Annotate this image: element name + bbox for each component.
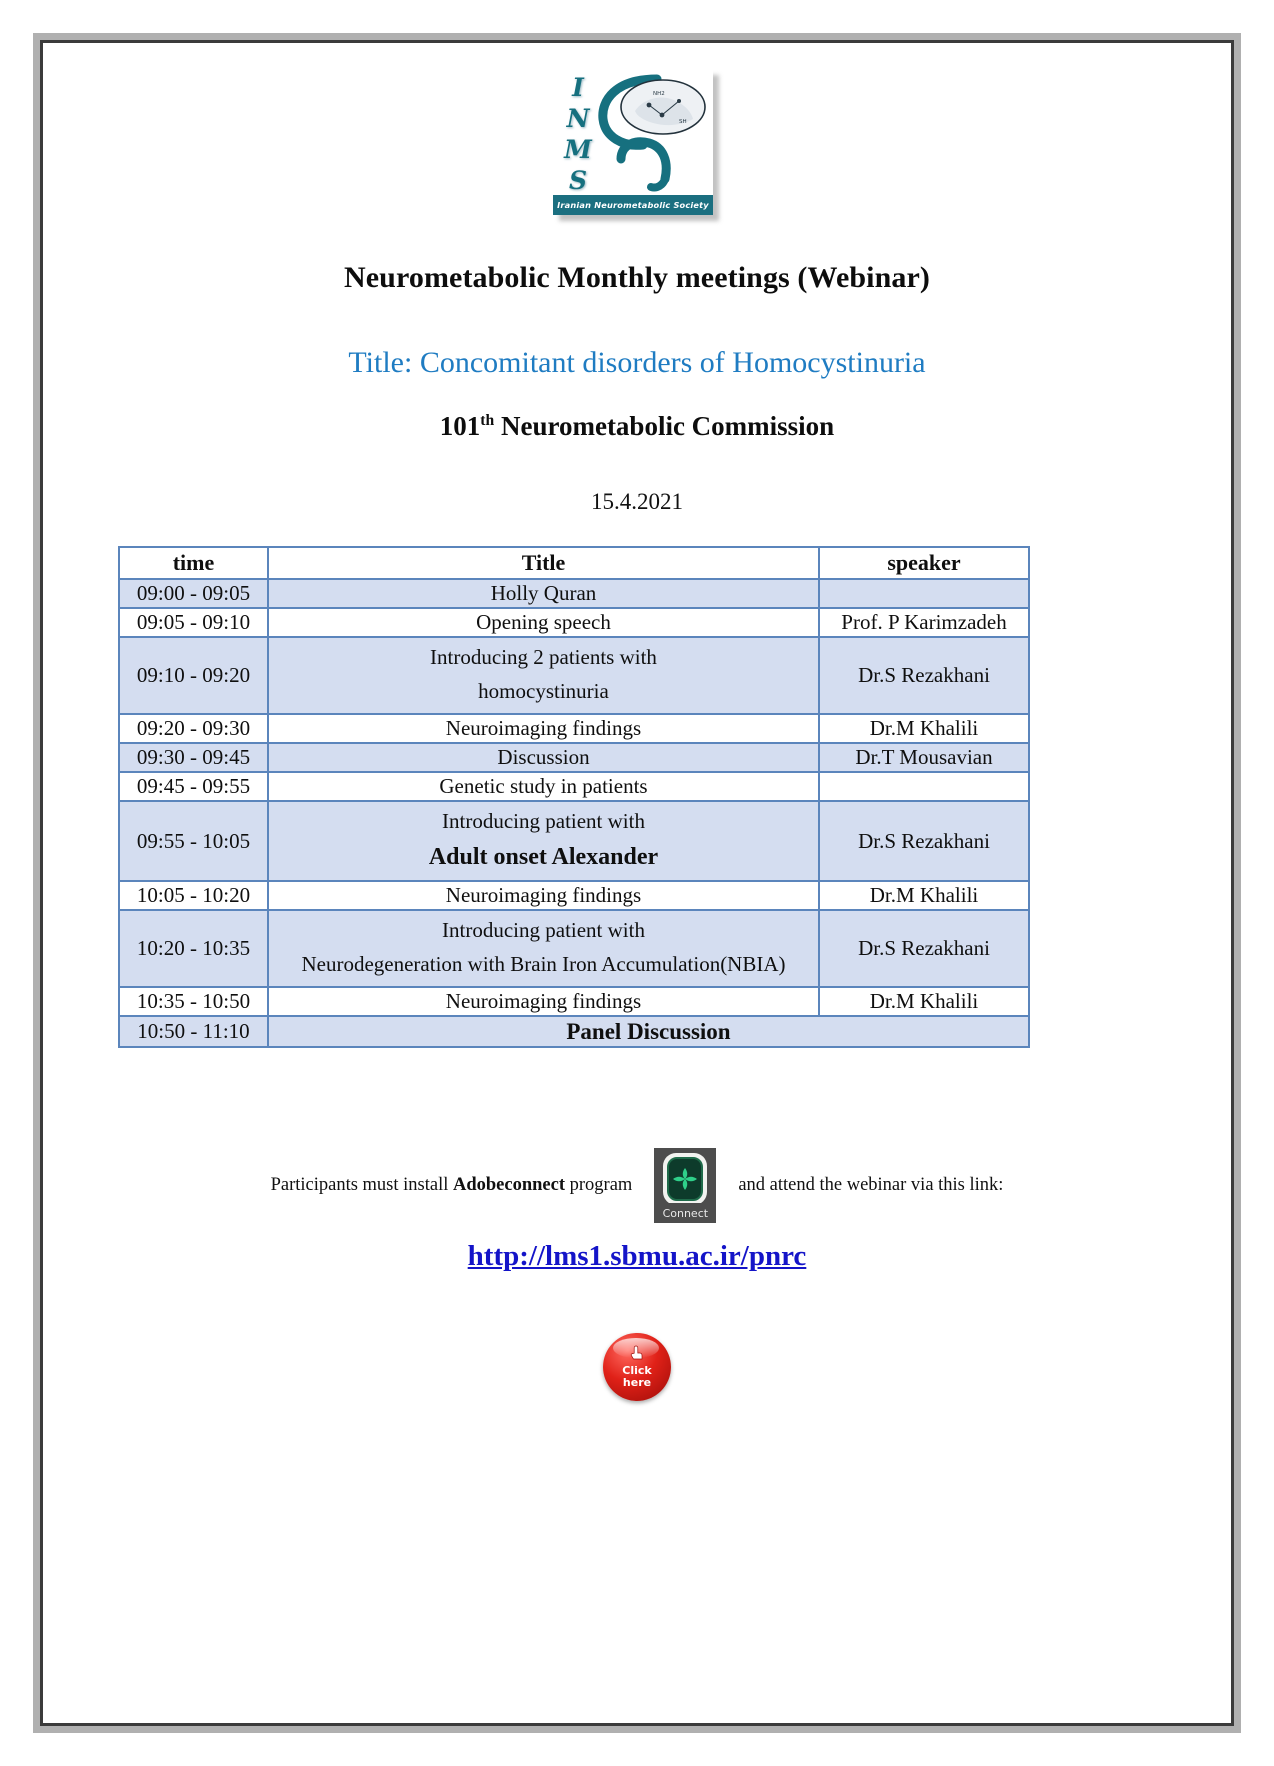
- cell-title: Panel Discussion: [268, 1016, 1029, 1047]
- table-header-row: time Title speaker: [119, 547, 1029, 579]
- cell-title: Genetic study in patients: [268, 772, 819, 801]
- logo-letter-n: N: [567, 106, 590, 131]
- webinar-subject-title: Title: Concomitant disorders of Homocyst…: [43, 346, 1231, 380]
- cell-title-text: Neuroimaging findings: [446, 883, 641, 907]
- table-row: 09:10 - 09:20Introducing 2 patients with…: [119, 637, 1029, 714]
- table-row: 09:20 - 09:30Neuroimaging findingsDr.M K…: [119, 714, 1029, 743]
- cell-title: Opening speech: [268, 608, 819, 637]
- logo-letter-s: S: [569, 168, 587, 193]
- svg-text:SH: SH: [679, 119, 687, 125]
- page-border-outer: I N M S: [33, 33, 1241, 1733]
- cell-speaker: [819, 579, 1029, 608]
- schedule-table-wrapper: time Title speaker 09:00 - 09:05Holly Qu…: [118, 546, 1028, 1048]
- adobe-connect-icon[interactable]: Connect: [654, 1148, 716, 1223]
- cell-time: 10:50 - 11:10: [119, 1016, 268, 1047]
- cell-time: 10:35 - 10:50: [119, 987, 268, 1016]
- cell-time: 09:20 - 09:30: [119, 714, 268, 743]
- cell-time: 09:45 - 09:55: [119, 772, 268, 801]
- cell-speaker: Prof. P Karimzadeh: [819, 608, 1029, 637]
- cell-speaker: Dr.S Rezakhani: [819, 637, 1029, 714]
- cell-speaker: Dr.S Rezakhani: [819, 801, 1029, 881]
- cell-title: Discussion: [268, 743, 819, 772]
- cell-speaker: Dr.M Khalili: [819, 714, 1029, 743]
- webinar-link[interactable]: http://lms1.sbmu.ac.ir/pnrc: [468, 1240, 807, 1272]
- cell-title-text: Panel Discussion: [566, 1019, 730, 1044]
- cell-time: 10:20 - 10:35: [119, 910, 268, 987]
- table-row: 10:50 - 11:10Panel Discussion: [119, 1016, 1029, 1047]
- cell-time: 09:55 - 10:05: [119, 801, 268, 881]
- cell-speaker: Dr.T Mousavian: [819, 743, 1029, 772]
- table-row: 09:45 - 09:55Genetic study in patients: [119, 772, 1029, 801]
- commission-label: Neurometabolic Commission: [494, 411, 834, 441]
- column-header-time: time: [119, 547, 268, 579]
- table-row: 09:55 - 10:05Introducing patient withAdu…: [119, 801, 1029, 881]
- brain-graphic-icon: NH2 SH: [587, 71, 711, 193]
- table-row: 09:30 - 09:45DiscussionDr.T Mousavian: [119, 743, 1029, 772]
- schedule-table-body: 09:00 - 09:05Holly Quran09:05 - 09:10Ope…: [119, 579, 1029, 1047]
- cell-title-line-2: homocystinuria: [273, 681, 814, 710]
- cell-title: Neuroimaging findings: [268, 881, 819, 910]
- commission-number: 101: [440, 411, 481, 441]
- table-row: 10:35 - 10:50Neuroimaging findingsDr.M K…: [119, 987, 1029, 1016]
- cell-title-text: Genetic study in patients: [439, 774, 647, 798]
- pointing-hand-icon: [627, 1344, 647, 1364]
- logo-card: I N M S: [553, 69, 713, 215]
- document-sheet: I N M S: [43, 43, 1231, 1723]
- click-here-label: Click here: [603, 1365, 671, 1388]
- connect-icon-label: Connect: [654, 1203, 716, 1223]
- page-title: Neurometabolic Monthly meetings (Webinar…: [43, 261, 1231, 295]
- cell-title-text: Discussion: [497, 745, 589, 769]
- click-here-line2: here: [623, 1376, 651, 1389]
- schedule-table: time Title speaker 09:00 - 09:05Holly Qu…: [118, 546, 1030, 1048]
- cell-title-line-1: Introducing 2 patients with: [273, 641, 814, 681]
- cell-title-line-2: Neurodegeneration with Brain Iron Accumu…: [273, 954, 814, 983]
- cell-title-line-2: Adult onset Alexander: [273, 845, 814, 877]
- cell-title: Introducing patient withNeurodegeneratio…: [268, 910, 819, 987]
- cell-time: 09:05 - 09:10: [119, 608, 268, 637]
- webinar-link-row: http://lms1.sbmu.ac.ir/pnrc: [43, 1240, 1231, 1273]
- cell-title: Neuroimaging findings: [268, 987, 819, 1016]
- install-instruction-row: Participants must install Adobeconnect p…: [43, 1148, 1231, 1223]
- inms-logo: I N M S: [553, 69, 721, 221]
- table-row: 09:05 - 09:10Opening speechProf. P Karim…: [119, 608, 1029, 637]
- program-name: Adobeconnect: [453, 1175, 565, 1195]
- cell-title-text: Neuroimaging findings: [446, 989, 641, 1013]
- cell-speaker: Dr.S Rezakhani: [819, 910, 1029, 987]
- cell-time: 09:30 - 09:45: [119, 743, 268, 772]
- event-date: 15.4.2021: [43, 489, 1231, 515]
- page-border-inner: I N M S: [40, 40, 1234, 1726]
- install-text-before: Participants must install: [271, 1175, 453, 1195]
- table-row: 10:05 - 10:20Neuroimaging findingsDr.M K…: [119, 881, 1029, 910]
- cell-speaker: Dr.M Khalili: [819, 987, 1029, 1016]
- cell-title: Holly Quran: [268, 579, 819, 608]
- cell-title-text: Opening speech: [476, 610, 611, 634]
- cell-title-line-1: Introducing patient with: [273, 805, 814, 845]
- column-header-speaker: speaker: [819, 547, 1029, 579]
- cell-speaker: Dr.M Khalili: [819, 881, 1029, 910]
- connect-glyph-icon: [672, 1166, 698, 1192]
- table-row: 10:20 - 10:35Introducing patient withNeu…: [119, 910, 1029, 987]
- cell-title: Introducing 2 patients withhomocystinuri…: [268, 637, 819, 714]
- logo-letter-i: I: [572, 75, 584, 100]
- commission-heading: 101th Neurometabolic Commission: [43, 411, 1231, 442]
- cell-title-text: Neuroimaging findings: [446, 716, 641, 740]
- cell-title: Neuroimaging findings: [268, 714, 819, 743]
- table-row: 09:00 - 09:05Holly Quran: [119, 579, 1029, 608]
- cell-time: 09:10 - 09:20: [119, 637, 268, 714]
- cell-title: Introducing patient withAdult onset Alex…: [268, 801, 819, 881]
- svg-text:NH2: NH2: [653, 91, 665, 97]
- install-instruction-text: Participants must install Adobeconnect p…: [271, 1175, 633, 1196]
- cell-speaker: [819, 772, 1029, 801]
- logo-caption: Iranian Neurometabolic Society: [553, 195, 713, 215]
- install-text-after: and attend the webinar via this link:: [738, 1175, 1003, 1196]
- install-text-mid: program: [565, 1175, 632, 1195]
- column-header-title: Title: [268, 547, 819, 579]
- click-here-button[interactable]: Click here: [603, 1333, 671, 1401]
- cell-title-text: Holly Quran: [491, 581, 597, 605]
- cell-title-line-1: Introducing patient with: [273, 914, 814, 954]
- commission-ordinal: th: [480, 412, 494, 429]
- cell-time: 10:05 - 10:20: [119, 881, 268, 910]
- cell-time: 09:00 - 09:05: [119, 579, 268, 608]
